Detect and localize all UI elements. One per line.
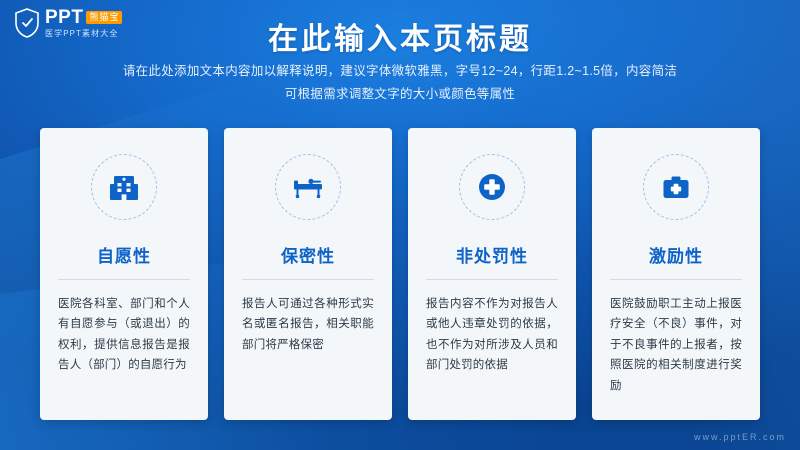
card-body: 报告内容不作为对报告人或他人违章处罚的依据，也不作为对所涉及人员和部门处罚的依据 [426,294,558,376]
card-item[interactable]: 自愿性 医院各科室、部门和个人有自愿参与（或退出）的权利，提供信息报告是报告人（… [40,128,208,420]
hospital-bed-icon [275,154,341,220]
card-item[interactable]: 保密性 报告人可通过各种形式实名或匿名报告，相关职能部门将严格保密 [224,128,392,420]
slide: PPT 熊猫宝 医学PPT素材大全 在此输入本页标题 请在此处添加文本内容加以解… [0,0,800,450]
card-body: 医院各科室、部门和个人有自愿参与（或退出）的权利，提供信息报告是报告人（部门）的… [58,294,190,376]
logo-tagline: 医学PPT素材大全 [45,30,122,38]
card-divider [610,279,742,280]
card-divider [58,279,190,280]
card-body: 医院鼓励职工主动上报医疗安全（不良）事件，对于不良事件的上报者，按照医院的相关制… [610,294,742,396]
card-title: 激励性 [649,242,703,267]
logo-brand: PPT [45,8,83,27]
subtitle-line-1: 请在此处添加文本内容加以解释说明，建议字体微软雅黑，字号12~24，行距1.2~… [0,60,800,83]
card-body: 报告人可通过各种形式实名或匿名报告，相关职能部门将严格保密 [242,294,374,355]
card-title: 自愿性 [97,242,151,267]
card-list: 自愿性 医院各科室、部门和个人有自愿参与（或退出）的权利，提供信息报告是报告人（… [40,128,760,420]
subtitle-line-2: 可根据需求调整文字的大小或颜色等属性 [0,83,800,106]
card-item[interactable]: 激励性 医院鼓励职工主动上报医疗安全（不良）事件，对于不良事件的上报者，按照医院… [592,128,760,420]
shield-icon [14,8,40,38]
card-divider [426,279,558,280]
first-aid-kit-icon [643,154,709,220]
logo: PPT 熊猫宝 医学PPT素材大全 [14,8,122,38]
watermark: www.pptER.com [694,432,786,442]
card-item[interactable]: 非处罚性 报告内容不作为对报告人或他人违章处罚的依据，也不作为对所涉及人员和部门… [408,128,576,420]
card-title: 保密性 [281,242,335,267]
logo-badge: 熊猫宝 [86,11,122,24]
card-title: 非处罚性 [456,242,528,267]
hospital-building-icon [91,154,157,220]
medical-cross-circle-icon [459,154,525,220]
page-subtitle: 请在此处添加文本内容加以解释说明，建议字体微软雅黑，字号12~24，行距1.2~… [0,60,800,106]
card-divider [242,279,374,280]
